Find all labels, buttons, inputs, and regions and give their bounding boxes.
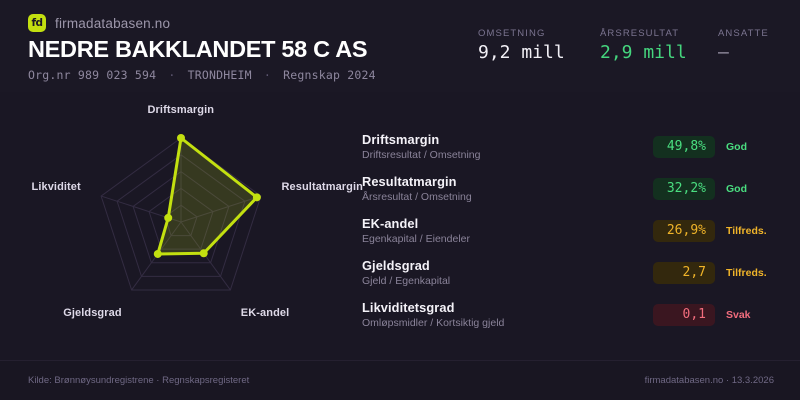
radar-axis-label: Likviditet	[32, 181, 81, 193]
metric-value-badge: 32,2%	[653, 178, 715, 200]
footer-source: Kilde: Brønnøysundregistrene · Regnskaps…	[28, 375, 249, 386]
metric-name: Gjeldsgrad	[362, 258, 653, 273]
firmadatabasen-logo-icon: fd	[28, 14, 46, 32]
metric-value-badge: 26,9%	[653, 220, 715, 242]
radar-chart-svg	[0, 92, 360, 360]
meta-separator-1: ·	[163, 68, 180, 82]
metric-row: DriftsmarginDriftsresultat / Omsetning49…	[362, 126, 782, 168]
metric-rating-label: God	[726, 141, 782, 153]
radar-data-point	[154, 250, 162, 258]
metric-row: ResultatmarginÅrsresultat / Omsetning32,…	[362, 168, 782, 210]
metric-rating-label: God	[726, 183, 782, 195]
metric-text: LikviditetsgradOmløpsmidler / Kortsiktig…	[362, 300, 653, 330]
company-city: TRONDHEIM	[188, 68, 252, 82]
metric-rating-label: Tilfreds.	[726, 225, 782, 237]
metric-value-badge: 49,8%	[653, 136, 715, 158]
metric-name: Resultatmargin	[362, 174, 653, 189]
metric-right: 26,9%Tilfreds.	[653, 220, 782, 242]
metric-formula: Omløpsmidler / Kortsiktig gjeld	[362, 317, 653, 330]
kpi-arsresultat-label: ÅRSRESULTAT	[600, 28, 718, 39]
metric-row: GjeldsgradGjeld / Egenkapital2,7Tilfreds…	[362, 252, 782, 294]
org-number: Org.nr 989 023 594	[28, 68, 156, 82]
brand[interactable]: fd firmadatabasen.no	[28, 14, 170, 32]
radar-chart: DriftsmarginResultatmarginEK-andelGjelds…	[0, 92, 360, 360]
main-content: DriftsmarginResultatmarginEK-andelGjelds…	[0, 92, 800, 360]
metric-rating-label: Svak	[726, 309, 782, 321]
metric-row: LikviditetsgradOmløpsmidler / Kortsiktig…	[362, 294, 782, 336]
accounting-period: Regnskap 2024	[283, 68, 376, 82]
radar-data-point	[164, 214, 172, 222]
metric-name: Driftsmargin	[362, 132, 653, 147]
metric-name: Likviditetsgrad	[362, 300, 653, 315]
radar-data-point	[177, 134, 185, 142]
metric-right: 32,2%God	[653, 178, 782, 200]
radar-axis-label: Gjeldsgrad	[63, 307, 121, 319]
kpi-ansatte: ANSATTE –	[718, 28, 774, 62]
metric-value-badge: 0,1	[653, 304, 715, 326]
metric-text: DriftsmarginDriftsresultat / Omsetning	[362, 132, 653, 162]
kpi-arsresultat: ÅRSRESULTAT 2,9 mill	[600, 28, 718, 62]
metric-text: GjeldsgradGjeld / Egenkapital	[362, 258, 653, 288]
radar-axis-label: Driftsmargin	[148, 104, 215, 116]
metric-right: 0,1Svak	[653, 304, 782, 326]
radar-axis-label: Resultatmargin	[282, 181, 363, 193]
kpi-omsetning-label: OMSETNING	[478, 28, 600, 39]
footer: Kilde: Brønnøysundregistrene · Regnskaps…	[0, 360, 800, 400]
metric-formula: Egenkapital / Eiendeler	[362, 233, 653, 246]
brand-name: firmadatabasen.no	[55, 16, 170, 31]
page-title: NEDRE BAKKLANDET 58 C AS	[28, 36, 367, 63]
radar-axis-label: EK-andel	[241, 307, 289, 319]
metric-formula: Gjeld / Egenkapital	[362, 275, 653, 288]
metric-formula: Driftsresultat / Omsetning	[362, 149, 653, 162]
metric-row: EK-andelEgenkapital / Eiendeler26,9%Tilf…	[362, 210, 782, 252]
metric-value-badge: 2,7	[653, 262, 715, 284]
company-financial-summary-card: fd firmadatabasen.no NEDRE BAKKLANDET 58…	[0, 0, 800, 400]
kpi-ansatte-label: ANSATTE	[718, 28, 774, 39]
header: fd firmadatabasen.no NEDRE BAKKLANDET 58…	[0, 0, 800, 92]
kpi-omsetning-value: 9,2 mill	[478, 44, 600, 62]
metric-right: 2,7Tilfreds.	[653, 262, 782, 284]
footer-stamp: firmadatabasen.no · 13.3.2026	[645, 375, 774, 386]
metric-right: 49,8%God	[653, 136, 782, 158]
kpi-omsetning: OMSETNING 9,2 mill	[478, 28, 600, 62]
metric-rating-label: Tilfreds.	[726, 267, 782, 279]
radar-data-point	[200, 249, 208, 257]
metric-text: ResultatmarginÅrsresultat / Omsetning	[362, 174, 653, 204]
company-meta: Org.nr 989 023 594 · TRONDHEIM · Regnska…	[28, 68, 376, 82]
radar-data-point	[253, 193, 261, 201]
metric-formula: Årsresultat / Omsetning	[362, 191, 653, 204]
meta-separator-2: ·	[259, 68, 276, 82]
metric-list: DriftsmarginDriftsresultat / Omsetning49…	[362, 126, 782, 336]
kpi-strip: OMSETNING 9,2 mill ÅRSRESULTAT 2,9 mill …	[478, 28, 774, 62]
kpi-arsresultat-value: 2,9 mill	[600, 44, 718, 62]
metric-text: EK-andelEgenkapital / Eiendeler	[362, 216, 653, 246]
metric-name: EK-andel	[362, 216, 653, 231]
kpi-ansatte-value: –	[718, 44, 774, 62]
